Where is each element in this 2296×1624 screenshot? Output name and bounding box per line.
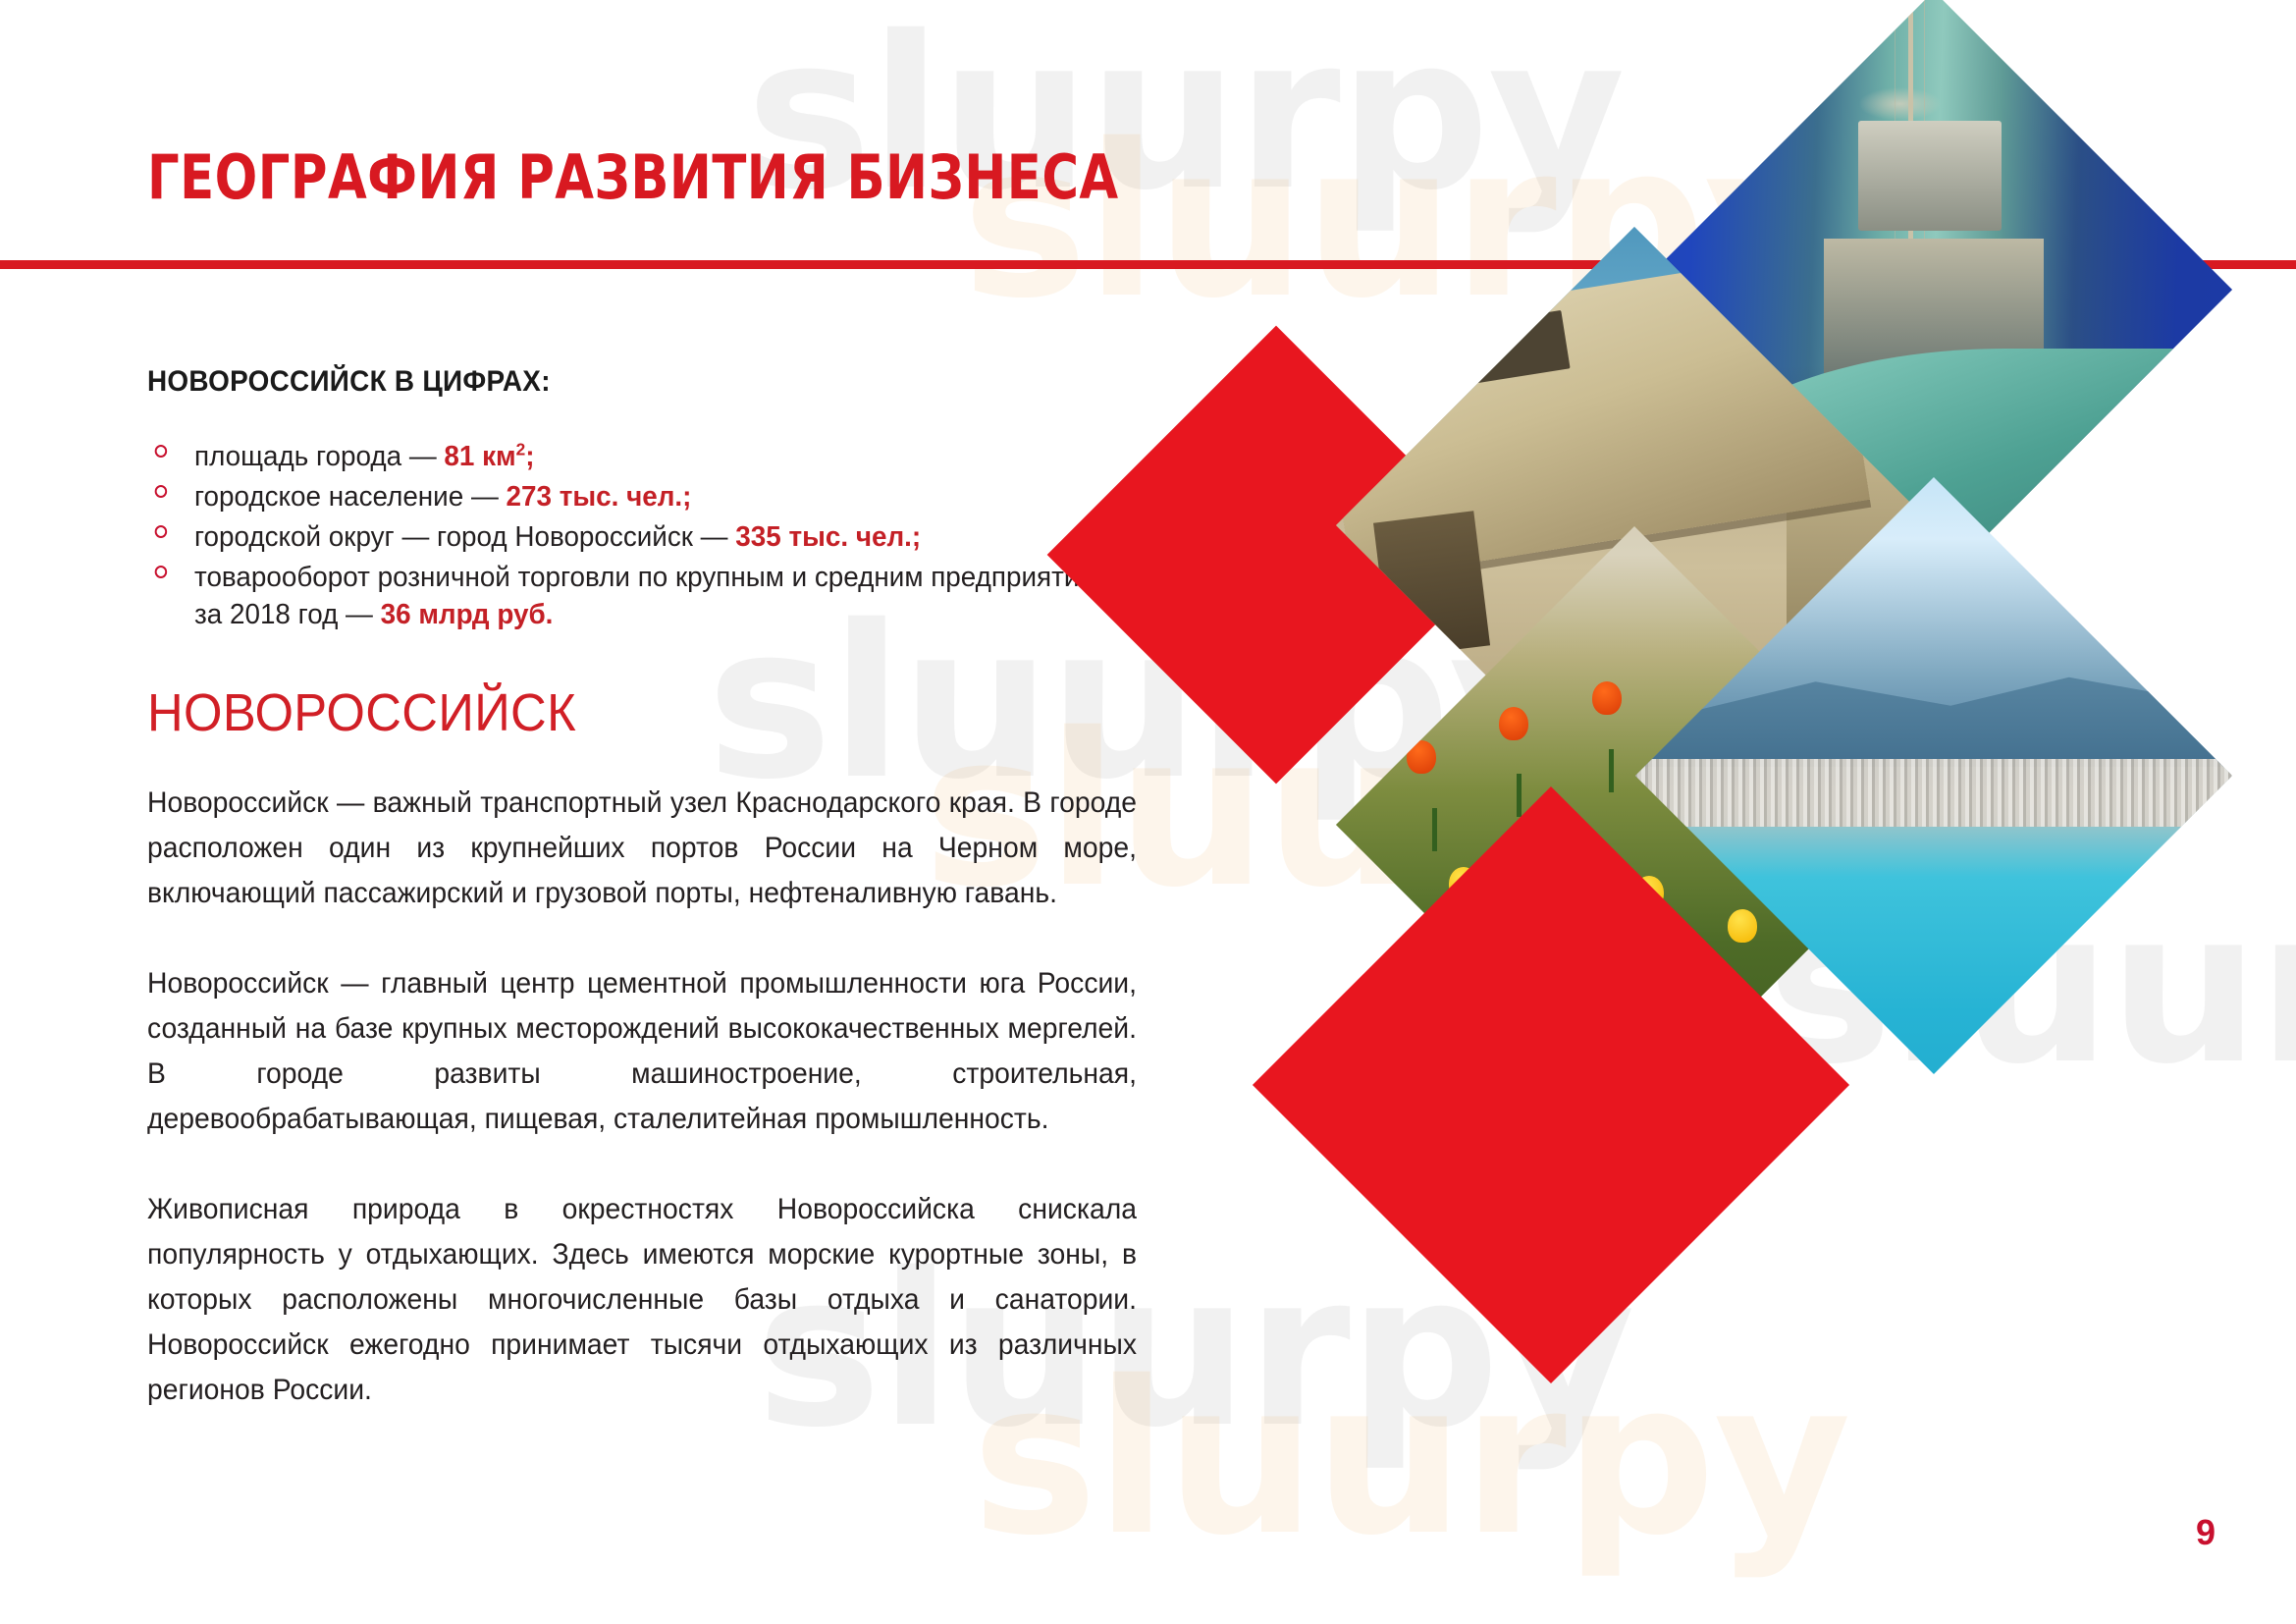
- stat-value: 81 км: [444, 441, 515, 472]
- list-item: площадь города — 81 км2;: [147, 438, 1127, 475]
- flower-orange: [1592, 681, 1622, 715]
- bullet-circle-icon: [155, 445, 167, 458]
- stats-list: площадь города — 81 км2; городское насел…: [147, 438, 1168, 633]
- flower-stem: [1609, 749, 1614, 792]
- flower-yellow: [1728, 909, 1757, 943]
- page-number: 9: [2196, 1512, 2216, 1553]
- stat-label: городской округ — город Новороссийск —: [194, 521, 735, 553]
- stat-label: городское население —: [194, 481, 507, 513]
- bullet-circle-icon: [155, 566, 167, 578]
- bullet-circle-icon: [155, 485, 167, 498]
- stat-value: 335 тыс. чел.;: [735, 521, 921, 553]
- stat-label: площадь города —: [194, 441, 444, 472]
- flower-stem: [1432, 808, 1437, 851]
- page-title: ГЕОГРАФИЯ РАЗВИТИЯ БИЗНЕСА: [147, 147, 1119, 208]
- cloud: [2035, 514, 2100, 537]
- body-paragraph: Живописная природа в окрестностях Новоро…: [147, 1187, 1137, 1413]
- stats-heading: НОВОРОССИЙСК В ЦИФРАХ:: [147, 365, 1096, 399]
- list-item: городской округ — город Новороссийск — 3…: [147, 518, 1127, 556]
- stat-tail: ;: [525, 441, 534, 472]
- flower-orange: [1499, 707, 1528, 740]
- flower-stem: [1517, 774, 1522, 817]
- list-item: товарооборот розничной торговли по крупн…: [147, 559, 1127, 633]
- bay-town: [1635, 759, 2232, 827]
- stat-superscript: 2: [516, 439, 526, 459]
- body-paragraph: Новороссийск — важный транспортный узел …: [147, 781, 1137, 916]
- ship-superstructure-upper: [1858, 121, 2002, 231]
- diamond-photo-collage: [1232, 79, 2296, 1591]
- presentation-slide: sluurpy sluurpy sluurpy sluurpy sluurpy …: [0, 0, 2296, 1624]
- body-paragraph: Новороссийск — главный центр цементной п…: [147, 961, 1137, 1142]
- bullet-circle-icon: [155, 525, 167, 538]
- content-column: НОВОРОССИЙСК В ЦИФРАХ: площадь города — …: [147, 365, 1168, 1413]
- flower-orange: [1407, 740, 1436, 774]
- stat-value: 273 тыс. чел.;: [507, 481, 692, 513]
- stat-label: товарооборот розничной торговли по крупн…: [194, 562, 1113, 630]
- stat-value: 36 млрд руб.: [381, 599, 554, 630]
- list-item: городское население — 273 тыс. чел.;: [147, 478, 1127, 515]
- section-heading-city: НОВОРОССИЙСК: [147, 686, 1107, 739]
